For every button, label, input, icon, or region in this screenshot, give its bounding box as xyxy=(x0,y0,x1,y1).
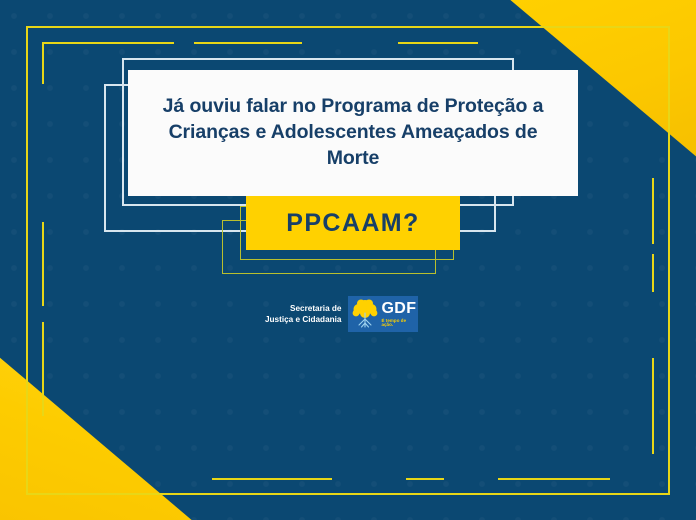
segment-rule-left-3 xyxy=(42,322,44,416)
segment-rule-right-2 xyxy=(652,254,654,292)
segment-rule-top-3 xyxy=(398,42,478,44)
poster-canvas: Já ouviu falar no Programa de Proteção a… xyxy=(0,0,696,520)
gdf-tagline: É tempo de ação. xyxy=(381,319,416,328)
secretariat-line-1: Secretaria de xyxy=(265,303,341,314)
segment-rule-bottom-3 xyxy=(498,478,610,480)
segment-rule-bottom-2 xyxy=(406,478,444,480)
segment-rule-top-1 xyxy=(42,42,174,44)
segment-rule-left-1 xyxy=(42,42,44,84)
segment-rule-right-1 xyxy=(652,178,654,244)
secretariat-line-2: Justiça e Cidadania xyxy=(265,314,341,325)
segment-rule-right-3 xyxy=(652,358,654,454)
frame-rule-left xyxy=(26,26,28,495)
bottom-left-yellow-wedge xyxy=(0,356,194,520)
secretariat-wordmark: Secretaria de Justiça e Cidadania xyxy=(265,303,341,325)
frame-rule-bottom xyxy=(26,493,670,495)
gdf-logo-badge: GDF É tempo de ação. xyxy=(348,296,418,332)
gdf-wordmark: GDF É tempo de ação. xyxy=(381,301,416,328)
bottom-left-wedge-shadow xyxy=(0,340,212,520)
page-title: Já ouviu falar no Programa de Proteção a… xyxy=(128,94,578,172)
segment-rule-top-2 xyxy=(194,42,302,44)
headline-card: Já ouviu falar no Programa de Proteção a… xyxy=(128,70,578,196)
frame-rule-right xyxy=(668,26,670,495)
tree-icon xyxy=(352,299,378,329)
frame-rule-top xyxy=(26,26,670,28)
footer-logo-lockup: Secretaria de Justiça e Cidadania xyxy=(265,296,418,332)
gdf-acronym: GDF xyxy=(381,301,416,317)
segment-rule-bottom-1 xyxy=(212,478,332,480)
acronym-label: PPCAAM? xyxy=(286,209,419,238)
acronym-banner: PPCAAM? xyxy=(246,196,460,250)
segment-rule-left-2 xyxy=(42,222,44,306)
